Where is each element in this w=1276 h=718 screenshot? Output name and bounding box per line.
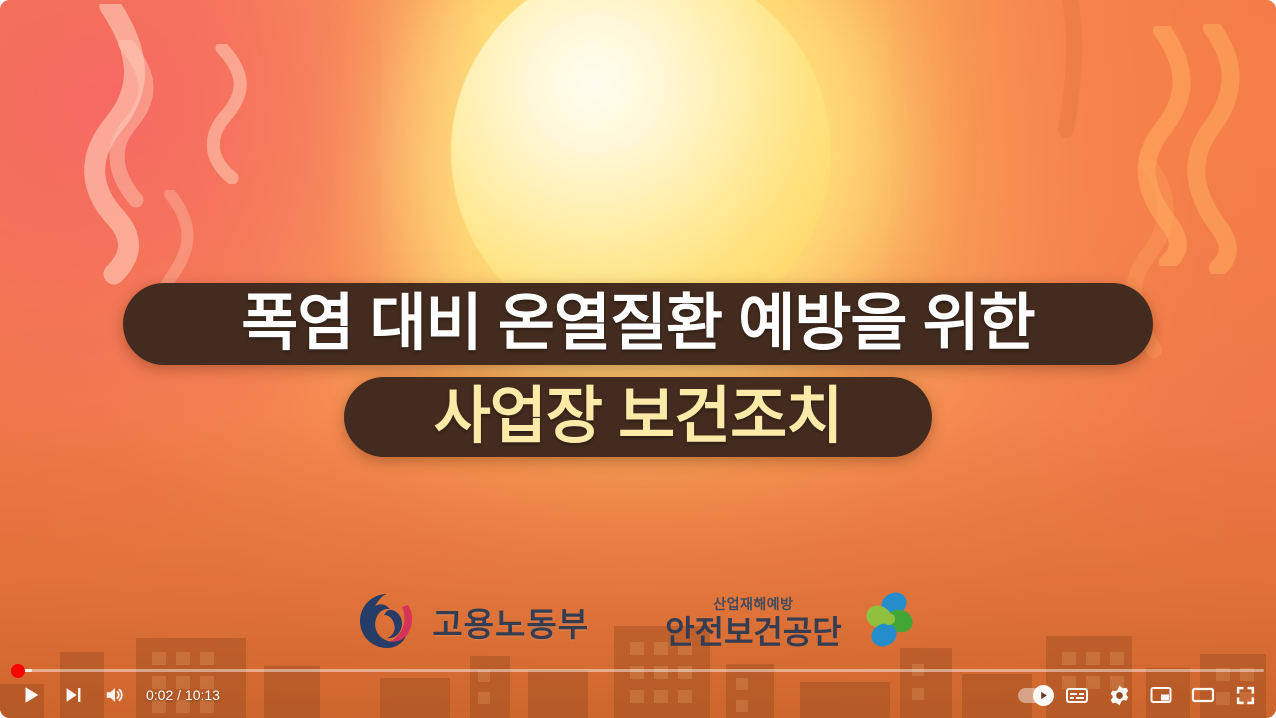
heat-wave-icon xyxy=(1128,26,1248,266)
theater-mode-button[interactable] xyxy=(1182,674,1224,716)
page-title: 폭염 대비 온열질환 예방을 위한 xyxy=(241,293,1034,355)
ministry-of-employment-and-labor-logo: 고용노동부 xyxy=(356,591,589,653)
miniplayer-button[interactable] xyxy=(1140,674,1182,716)
player-controls[interactable]: 0:02 / 10:13 xyxy=(0,660,1276,718)
heat-wave-icon xyxy=(1184,24,1276,274)
video-player[interactable]: 폭염 대비 온열질환 예방을 위한 사업장 보건조치 고용노동부 산업재해예방 xyxy=(0,0,1276,718)
autoplay-knob[interactable] xyxy=(1033,685,1054,706)
settings-gear-icon[interactable] xyxy=(1098,674,1140,716)
kosha-pinwheel-icon xyxy=(856,590,920,654)
kosha-logo: 산업재해예방 안전보건공단 xyxy=(665,590,920,654)
time-display: 0:02 / 10:13 xyxy=(146,687,220,703)
autoplay-toggle-button[interactable] xyxy=(1014,674,1056,716)
title-pill-primary: 폭염 대비 온열질환 예방을 위한 xyxy=(123,283,1153,365)
page-subtitle: 사업장 보건조치 xyxy=(434,386,843,448)
next-video-button[interactable] xyxy=(52,674,94,716)
heat-wave-icon xyxy=(200,44,290,184)
heat-wave-icon xyxy=(76,4,206,304)
play-button[interactable] xyxy=(10,674,52,716)
logo-row: 고용노동부 산업재해예방 안전보건공단 xyxy=(0,590,1276,654)
video-frame[interactable]: 폭염 대비 온열질환 예방을 위한 사업장 보건조치 고용노동부 산업재해예방 xyxy=(0,0,1276,718)
volume-button[interactable] xyxy=(94,674,136,716)
kosha-logo-text: 안전보건공단 xyxy=(665,616,842,648)
video-title-block: 폭염 대비 온열질환 예방을 위한 사업장 보건조치 xyxy=(0,283,1276,457)
fullscreen-button[interactable] xyxy=(1224,674,1266,716)
subtitles-button[interactable] xyxy=(1056,674,1098,716)
kosha-logo-tagline: 산업재해예방 xyxy=(713,597,793,611)
ministry-logo-text: 고용노동부 xyxy=(432,598,589,646)
heat-wave-icon xyxy=(1044,0,1104,160)
heat-wave-icon xyxy=(104,40,214,220)
title-pill-secondary: 사업장 보건조치 xyxy=(344,377,932,457)
taegeuk-logo-icon xyxy=(356,591,418,653)
